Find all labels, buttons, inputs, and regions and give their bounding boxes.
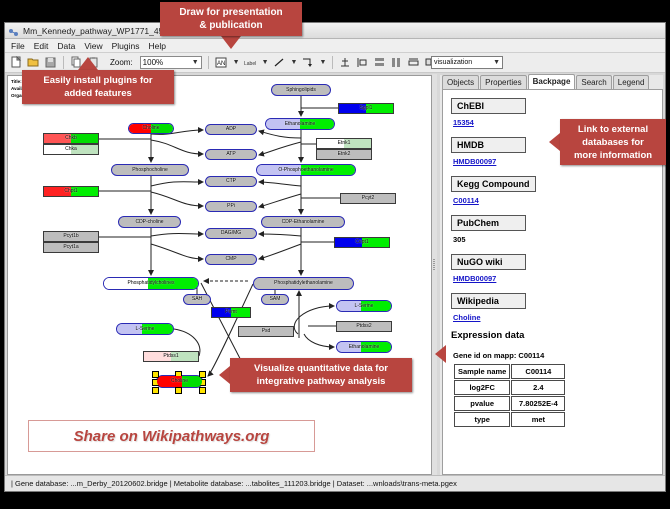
metabolite-node-sam[interactable]: SAM <box>261 294 289 305</box>
anchor-icon[interactable] <box>339 56 352 69</box>
gene-node-pcyt2[interactable]: Pcyt2 <box>340 193 396 204</box>
node-label: Pemt <box>225 310 237 315</box>
node-label: Cept1 <box>355 240 368 245</box>
node-label: SAH <box>192 297 202 302</box>
backpage-section-value-wikipedia[interactable]: Choline <box>453 313 654 322</box>
expression-data-title: Expression data <box>451 330 654 341</box>
node-label: L-Serine <box>355 304 374 309</box>
node-label: SAM <box>270 297 281 302</box>
backpage-section-header-nugo-wiki: NuGO wiki <box>451 254 526 270</box>
node-label: Pcyt1a <box>63 245 78 250</box>
visualize-callout-line1: Visualize quantitative data for <box>254 362 388 375</box>
metabolite-node-dag-mg[interactable]: DAG/MG <box>205 228 257 239</box>
gene-node-pcyt1b[interactable]: Pcyt1b <box>43 231 99 242</box>
backpage-tabstrip[interactable]: Objects Properties Backpage Search Legen… <box>440 75 663 89</box>
metabolite-node-choline-selected[interactable]: Choline <box>156 375 203 388</box>
gene-node-psd[interactable]: Psd <box>238 326 294 337</box>
metabolite-node-cmp[interactable]: CMP <box>205 254 257 265</box>
tab-properties[interactable]: Properties <box>480 75 526 89</box>
table-row: typemet <box>454 412 565 427</box>
visualize-callout-arrow <box>219 366 230 384</box>
node-label: Ethanolamine <box>349 345 380 350</box>
gene-node-chkb[interactable]: Chkb <box>43 133 99 144</box>
backpage-section-value-kegg-compound[interactable]: C00114 <box>453 196 654 205</box>
metabolite-node-o-phosphoethanolamine[interactable]: O-Phosphoethanolamine <box>256 164 356 176</box>
arrow-icon[interactable] <box>301 56 314 69</box>
plugins-callout-line1: Easily install plugins for <box>43 74 152 87</box>
metabolite-node-phosphocholine[interactable]: Phosphocholine <box>111 164 189 176</box>
databases-callout-line2: databases for <box>582 136 644 149</box>
table-row: pvalue7.80252E-4 <box>454 396 565 411</box>
menu-item-edit[interactable]: Edit <box>34 41 49 51</box>
node-label: Phosphocholine <box>132 168 168 173</box>
visualization-dropdown[interactable]: visualization ▼ <box>431 56 503 69</box>
stack-icon[interactable] <box>407 56 420 69</box>
distribute-icon[interactable] <box>390 56 403 69</box>
backpage-section-header-hmdb: HMDB <box>451 137 526 153</box>
metabolite-node-ethanolamine-bottom[interactable]: Ethanolamine <box>336 341 392 353</box>
status-bar: | Gene database: ...m_Derby_20120602.bri… <box>5 475 665 491</box>
toolbar-separator <box>63 56 64 69</box>
menu-item-help[interactable]: Help <box>149 41 166 51</box>
menu-bar[interactable]: File Edit Data View Plugins Help <box>5 39 665 53</box>
pane-splitter[interactable] <box>432 74 437 476</box>
metabolite-node-choline-top[interactable]: Choline <box>128 123 174 134</box>
metabolite-node-l-serine-right[interactable]: L-Serine <box>336 300 392 312</box>
backpage-section-header-pubchem: PubChem <box>451 215 526 231</box>
table-cell-key: log2FC <box>454 380 510 395</box>
node-label: O-Phosphoethanolamine <box>278 168 333 173</box>
node-label: PPi <box>227 204 235 209</box>
node-label: Ptdss2 <box>356 324 371 329</box>
visualization-value: visualization <box>434 59 472 66</box>
node-label: ADP <box>226 127 236 132</box>
node-label: Choline <box>143 126 160 131</box>
backpage-section-header-kegg-compound: Kegg Compound <box>451 176 536 192</box>
metabolite-node-adp[interactable]: ADP <box>205 124 257 135</box>
handle-sw[interactable] <box>152 387 159 394</box>
align-middle-icon[interactable] <box>373 56 386 69</box>
new-icon[interactable] <box>10 56 23 69</box>
pathway-canvas[interactable]: Title: Availa Organi <box>7 75 432 475</box>
plugins-callout-arrow <box>78 57 98 70</box>
tab-backpage[interactable]: Backpage <box>528 74 576 89</box>
expression-table: Sample nameC00114log2FC2.4pvalue7.80252E… <box>453 363 566 428</box>
share-box: Share on Wikipathways.org <box>28 420 315 452</box>
metabolite-node-sah[interactable]: SAH <box>183 294 211 305</box>
node-label: Phosphatidylcholines <box>128 281 175 286</box>
chevron-down-icon[interactable]: ▼ <box>233 59 240 66</box>
metabolite-node-ppi[interactable]: PPi <box>205 201 257 212</box>
chevron-down-icon[interactable]: ▼ <box>262 59 269 66</box>
draw-callout-line2: & publication <box>199 19 262 32</box>
visualize-callout: Visualize quantitative data for integrat… <box>230 358 412 392</box>
table-cell-key: Sample name <box>454 364 510 379</box>
databases-callout-arrow <box>549 133 560 151</box>
plugins-callout: Easily install plugins for added feature… <box>22 70 174 104</box>
label-icon[interactable]: Label <box>244 56 257 69</box>
title-bar: Mm_Kennedy_pathway_WP1771_45176.gpml <box>5 23 665 39</box>
metabolite-node-sphingolipids[interactable]: Sphingolipids <box>271 84 331 96</box>
gene-id-line: Gene id on mapp: C00114 <box>453 351 654 360</box>
table-cell-key: pvalue <box>454 396 510 411</box>
open-icon[interactable] <box>27 56 40 69</box>
table-cell-value: 2.4 <box>511 380 565 395</box>
node-label: Psd <box>262 329 271 334</box>
zoom-value: 100% <box>143 58 163 67</box>
table-cell-value: met <box>511 412 565 427</box>
text-icon[interactable]: AN <box>215 56 228 69</box>
align-left-icon[interactable] <box>356 56 369 69</box>
chevron-down-icon[interactable]: ▼ <box>291 59 298 66</box>
node-label: Ptdss1 <box>163 354 178 359</box>
chevron-down-icon[interactable]: ▼ <box>319 59 326 66</box>
node-label: CDP-choline <box>135 220 163 225</box>
save-icon[interactable] <box>44 56 57 69</box>
node-label: Sgpl1 <box>360 106 373 111</box>
gene-node-chpt1[interactable]: Chpt1 <box>43 186 99 197</box>
node-label: ATP <box>226 152 235 157</box>
toolbar-separator <box>208 56 209 69</box>
node-label: Choline <box>171 379 188 384</box>
gene-node-pcyt1a[interactable]: Pcyt1a <box>43 242 99 253</box>
chevron-down-icon: ▼ <box>493 59 500 66</box>
node-label: Ethanolamine <box>285 122 316 127</box>
handle-s[interactable] <box>175 387 182 394</box>
expression-callout-arrow <box>435 345 446 363</box>
backpage-section-value-nugo-wiki[interactable]: HMDB00097 <box>453 274 654 283</box>
metabolite-node-l-serine-left[interactable]: L-Serine <box>116 323 174 335</box>
pathvisio-icon <box>8 25 19 36</box>
table-row: Sample nameC00114 <box>454 364 565 379</box>
node-label: CTP <box>226 179 236 184</box>
line-icon[interactable] <box>273 56 286 69</box>
databases-callout-line1: Link to external <box>578 123 648 136</box>
table-cell-key: type <box>454 412 510 427</box>
metabolite-node-cdp-choline[interactable]: CDP-choline <box>118 216 181 228</box>
menu-item-file[interactable]: File <box>11 41 25 51</box>
metabolite-node-ethanolamine-top[interactable]: Ethanolamine <box>265 118 335 130</box>
zoom-label: Zoom: <box>110 58 133 67</box>
node-label: Sphingolipids <box>286 88 316 93</box>
share-box-text: Share on Wikipathways.org <box>74 428 270 445</box>
draw-callout-arrow <box>221 36 241 49</box>
menu-item-data[interactable]: Data <box>57 41 75 51</box>
metabolite-node-atp[interactable]: ATP <box>205 149 257 160</box>
gene-node-ptdss1[interactable]: Ptdss1 <box>143 351 199 362</box>
chevron-down-icon: ▼ <box>192 59 199 66</box>
draw-callout-line1: Draw for presentation <box>179 6 282 19</box>
node-label: DAG/MG <box>221 231 241 236</box>
node-label: CDP-Ethanolamine <box>282 220 325 225</box>
draw-callout: Draw for presentation & publication <box>160 2 302 36</box>
node-label: L-Serine <box>136 327 155 332</box>
backpage-section-header-chebi: ChEBI <box>451 98 526 114</box>
metabolite-node-ctp[interactable]: CTP <box>205 176 257 187</box>
table-row: log2FC2.4 <box>454 380 565 395</box>
svg-text:AN: AN <box>217 61 225 67</box>
node-label: Chkb <box>65 136 77 141</box>
tab-legend[interactable]: Legend <box>613 75 650 89</box>
status-text: | Gene database: ...m_Derby_20120602.bri… <box>5 479 457 488</box>
plugins-callout-line2: added features <box>64 87 132 100</box>
node-label: Pcyt1b <box>63 234 78 239</box>
gene-node-cept1[interactable]: Cept1 <box>334 237 390 248</box>
tab-objects[interactable]: Objects <box>442 75 479 89</box>
svg-text:Label: Label <box>244 61 256 67</box>
databases-callout-line3: more information <box>574 149 652 162</box>
backpage-section-header-wikipedia: Wikipedia <box>451 293 526 309</box>
visualize-callout-line2: integrative pathway analysis <box>257 375 386 388</box>
node-label: Etnk1 <box>338 141 351 146</box>
node-label: Chpt1 <box>64 189 77 194</box>
menu-item-plugins[interactable]: Plugins <box>112 41 140 51</box>
metabolite-node-phosphatidylethanolamine[interactable]: Phosphatidylethanolamine <box>253 277 354 290</box>
gene-node-etnk2[interactable]: Etnk2 <box>316 149 372 160</box>
tab-search[interactable]: Search <box>576 75 611 89</box>
gene-node-pemt[interactable]: Pemt <box>211 307 251 318</box>
gene-node-etnk1[interactable]: Etnk1 <box>316 138 372 149</box>
screenshot-root: Mm_Kennedy_pathway_WP1771_45176.gpml Fil… <box>0 0 670 509</box>
node-label: Etnk2 <box>338 152 351 157</box>
node-label: Phosphatidylethanolamine <box>274 281 333 286</box>
gene-node-sgpl1[interactable]: Sgpl1 <box>338 103 394 114</box>
menu-item-view[interactable]: View <box>84 41 102 51</box>
zoom-select[interactable]: 100% ▼ <box>140 56 202 69</box>
node-label: Chka <box>65 147 77 152</box>
toolbar-separator <box>332 56 333 69</box>
node-label: CMP <box>225 257 236 262</box>
node-label: Pcyt2 <box>362 196 375 201</box>
handle-se[interactable] <box>199 387 206 394</box>
databases-callout: Link to external databases for more info… <box>560 119 666 165</box>
metabolite-node-phosphatidylcholines[interactable]: Phosphatidylcholines <box>103 277 199 290</box>
table-cell-value: C00114 <box>511 364 565 379</box>
gene-node-chka[interactable]: Chka <box>43 144 99 155</box>
backpage-section-value-pubchem: 305 <box>453 235 654 244</box>
gene-node-ptdss2[interactable]: Ptdss2 <box>336 321 392 332</box>
table-cell-value: 7.80252E-4 <box>511 396 565 411</box>
metabolite-node-cdp-ethanolamine[interactable]: CDP-Ethanolamine <box>261 216 345 228</box>
